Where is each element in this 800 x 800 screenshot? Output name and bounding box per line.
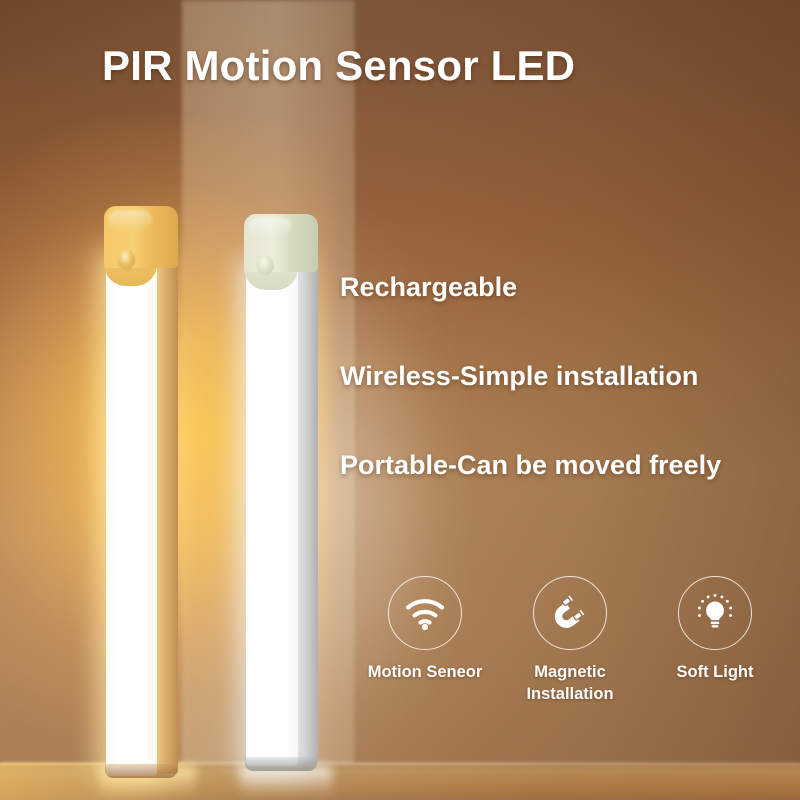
cool-bar-pir-sensor-lens — [257, 256, 274, 275]
cool-bar-light-panel — [246, 264, 298, 766]
warm-bar-pir-sensor-lens — [118, 250, 135, 270]
warm-bar-side-panel — [154, 246, 178, 774]
cool-bar-end-cap — [244, 214, 318, 272]
badge-soft-light-circle — [678, 576, 752, 650]
magnet-icon — [550, 593, 590, 633]
warm-light-bar — [104, 206, 178, 776]
badge-label-line1: Motion Seneor — [368, 663, 483, 681]
badge-motion-sensor-circle — [388, 576, 462, 650]
badge-soft-light: Soft Light — [650, 576, 780, 683]
page-title: PIR Motion Sensor LED — [102, 42, 575, 90]
badge-label-line1: Soft Light — [677, 663, 754, 681]
badge-magnetic-installation: Magnetic Installation — [505, 576, 635, 706]
cool-bar-base — [245, 757, 317, 771]
warm-bar-end-cap — [104, 206, 178, 268]
feature-item-portable: Portable-Can be moved freely — [340, 450, 796, 481]
badge-label-line2: Installation — [526, 683, 613, 705]
badge-label-line1: Magnetic — [534, 663, 606, 681]
badge-soft-light-label: Soft Light — [677, 661, 754, 683]
badge-motion-sensor: Motion Seneor — [360, 576, 490, 683]
cool-light-bar — [244, 214, 318, 769]
product-promo-image: PIR Motion Sensor LED Rechargeable Wirel… — [0, 0, 800, 800]
feature-list: Rechargeable Wireless-Simple installatio… — [340, 272, 796, 481]
badge-magnetic-label: Magnetic Installation — [526, 661, 613, 706]
feature-item-wireless: Wireless-Simple installation — [340, 361, 796, 392]
lightbulb-icon — [694, 592, 736, 634]
feature-item-rechargeable: Rechargeable — [340, 272, 796, 303]
cool-bar-cap-highlight — [248, 218, 292, 238]
badge-magnetic-circle — [533, 576, 607, 650]
warm-bar-light-panel — [106, 258, 157, 776]
warm-bar-base — [105, 764, 177, 778]
motion-sensor-icon — [404, 596, 446, 630]
cool-bar-side-panel — [296, 252, 318, 764]
warm-bar-cap-highlight — [108, 210, 152, 232]
badge-motion-sensor-label: Motion Seneor — [368, 661, 483, 683]
feature-badge-group: Motion Seneor — [360, 576, 780, 706]
